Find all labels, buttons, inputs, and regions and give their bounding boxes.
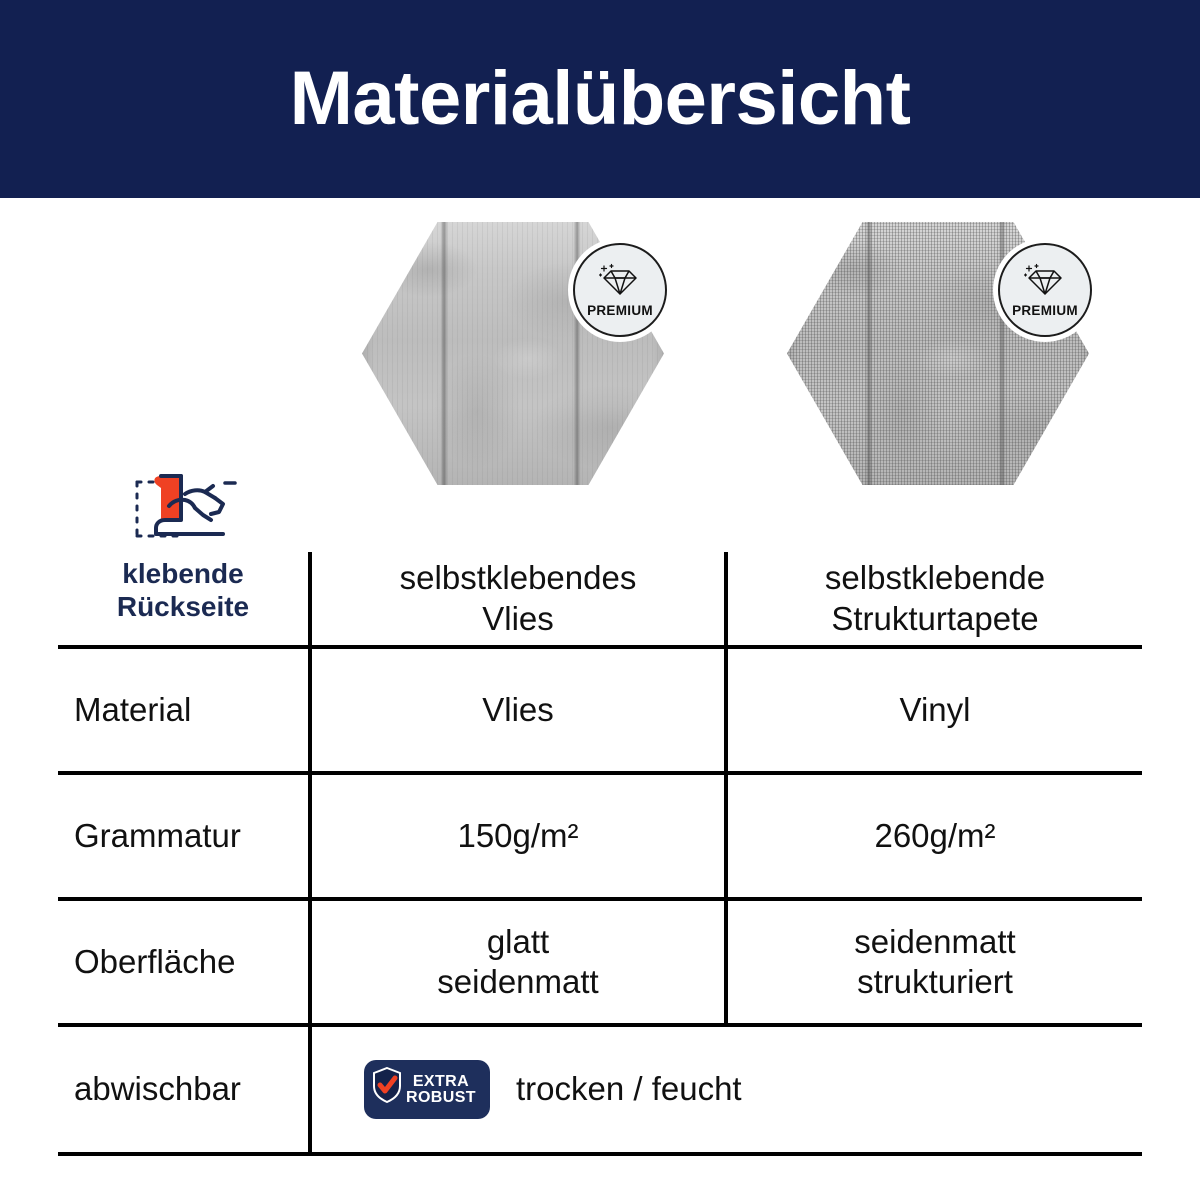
badge-line2: ROBUST bbox=[406, 1090, 476, 1106]
row-label-grammatur: Grammatur bbox=[58, 773, 310, 899]
material-spec-table: selbstklebendes Vlies selbstklebende Str… bbox=[58, 552, 1142, 1156]
cell-line2: seidenmatt bbox=[318, 962, 718, 1002]
badge-line1: EXTRA bbox=[406, 1074, 476, 1090]
row-label-oberflaeche: Oberfläche bbox=[58, 899, 310, 1025]
cell-material-a: Vlies bbox=[310, 647, 726, 773]
row-label-material: Material bbox=[58, 647, 310, 773]
cell-oberflaeche-a: glatt seidenmatt bbox=[310, 899, 726, 1025]
cell-line2: Vlies bbox=[318, 599, 718, 639]
table-row: abwischbar EXTRA ROBUST bbox=[58, 1025, 1142, 1154]
row-label-abwischbar: abwischbar bbox=[58, 1025, 310, 1154]
extra-robust-label: EXTRA ROBUST bbox=[406, 1074, 476, 1106]
extra-robust-badge: EXTRA ROBUST bbox=[364, 1060, 490, 1119]
page-header: Materialübersicht bbox=[0, 0, 1200, 198]
premium-badge-inner: PREMIUM bbox=[998, 243, 1092, 337]
cell-abwischbar-merged: EXTRA ROBUST trocken / feucht bbox=[310, 1025, 1142, 1154]
cell-product-name-a: selbstklebendes Vlies bbox=[310, 552, 726, 647]
cell-grammatur-b: 260g/m² bbox=[726, 773, 1142, 899]
table-row: Grammatur 150g/m² 260g/m² bbox=[58, 773, 1142, 899]
cell-grammatur-a: 150g/m² bbox=[310, 773, 726, 899]
table-row: Material Vlies Vinyl bbox=[58, 647, 1142, 773]
peeling-adhesive-backing-icon bbox=[123, 535, 243, 552]
premium-badge-label: PREMIUM bbox=[1012, 304, 1078, 318]
premium-badge-inner: PREMIUM bbox=[573, 243, 667, 337]
cell-abwischbar-value: trocken / feucht bbox=[516, 1069, 742, 1109]
diamond-icon bbox=[1024, 263, 1066, 302]
premium-badge-label: PREMIUM bbox=[587, 304, 653, 318]
page-title: Materialübersicht bbox=[290, 61, 911, 137]
cell-line1: selbstklebendes bbox=[318, 558, 718, 598]
cell-line2: Strukturtapete bbox=[734, 599, 1136, 639]
table-row: selbstklebendes Vlies selbstklebende Str… bbox=[58, 552, 1142, 647]
cell-line1: seidenmatt bbox=[734, 922, 1136, 962]
row-label-empty bbox=[58, 552, 310, 647]
cell-oberflaeche-b: seidenmatt strukturiert bbox=[726, 899, 1142, 1025]
premium-badge-right: PREMIUM bbox=[993, 238, 1097, 342]
diamond-icon bbox=[599, 263, 641, 302]
cell-material-b: Vinyl bbox=[726, 647, 1142, 773]
premium-badge-left: PREMIUM bbox=[568, 238, 672, 342]
shield-check-icon bbox=[372, 1067, 402, 1112]
material-sample-right: PREMIUM bbox=[787, 222, 1089, 485]
cell-line1: glatt bbox=[318, 922, 718, 962]
cell-line1: selbstklebende bbox=[734, 558, 1136, 598]
table-row: Oberfläche glatt seidenmatt seidenmatt s… bbox=[58, 899, 1142, 1025]
cell-product-name-b: selbstklebende Strukturtapete bbox=[726, 552, 1142, 647]
cell-line2: strukturiert bbox=[734, 962, 1136, 1002]
material-sample-left: PREMIUM bbox=[362, 222, 664, 485]
